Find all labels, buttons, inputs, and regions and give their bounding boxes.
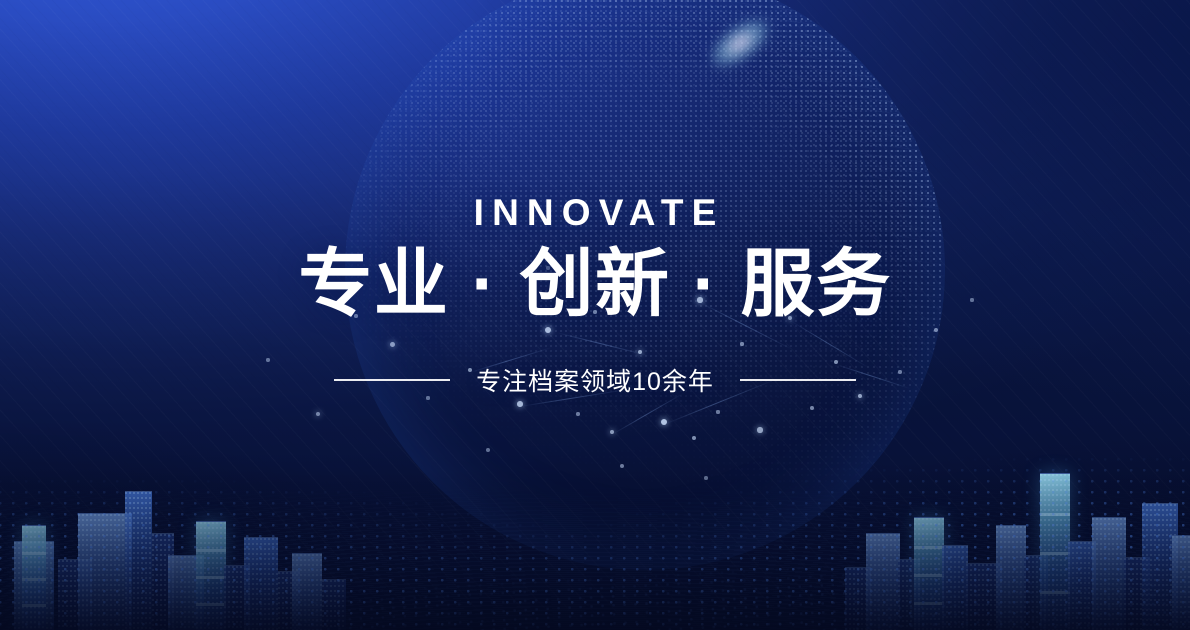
subtitle-rule-left xyxy=(334,379,450,381)
banner-subtitle-row: 专注档案领域10余年 xyxy=(0,362,1190,398)
subtitle-rule-right xyxy=(740,379,856,381)
banner-headline: 专业 · 创新 · 服务 xyxy=(0,245,1190,323)
banner-subtitle: 专注档案领域10余年 xyxy=(476,362,714,398)
hero-banner: INNOVATE 专业 · 创新 · 服务 专注档案领域10余年 xyxy=(0,0,1190,630)
banner-kicker: INNOVATE xyxy=(0,192,1190,234)
banner-text-block: INNOVATE 专业 · 创新 · 服务 专注档案领域10余年 xyxy=(0,0,1190,630)
